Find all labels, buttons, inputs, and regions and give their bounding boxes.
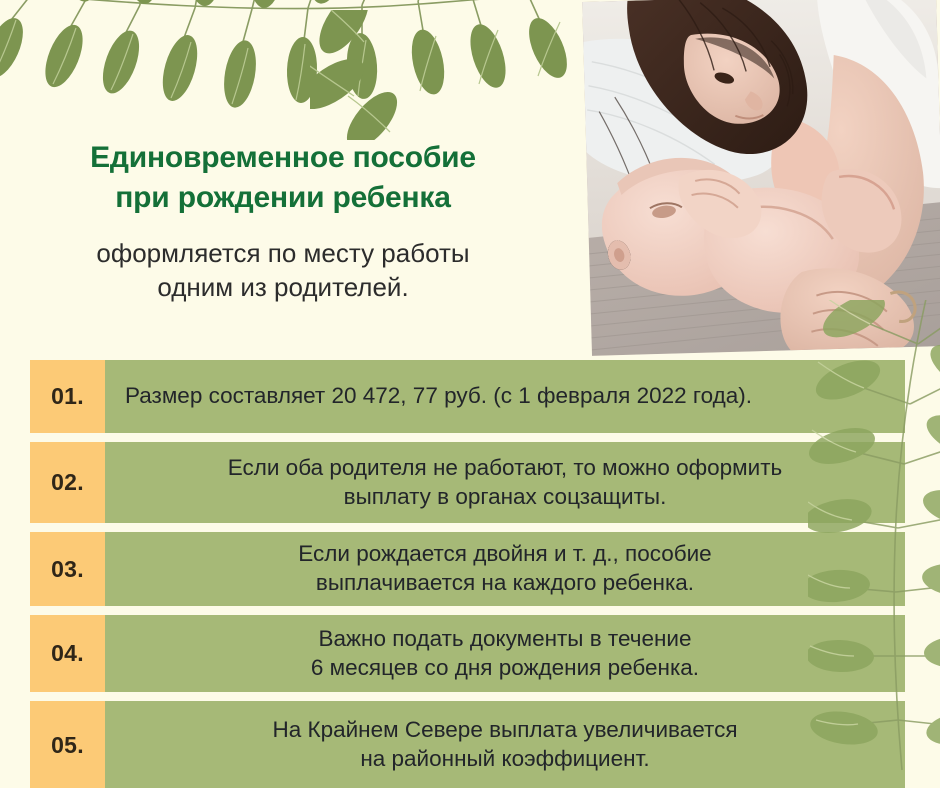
list-item-text: Если рождается двойня и т. д., пособие в… bbox=[105, 532, 905, 606]
list-item: 03. Если рождается двойня и т. д., пособ… bbox=[30, 532, 905, 606]
numbered-fact-list: 01. Размер составляет 20 472, 77 руб. (с… bbox=[30, 360, 905, 788]
list-item-line: выплачивается на каждого ребенка. bbox=[316, 570, 694, 595]
list-item-number: 02. bbox=[30, 442, 105, 523]
list-item-number: 03. bbox=[30, 532, 105, 606]
list-item-number: 01. bbox=[30, 360, 105, 433]
page-subtitle: оформляется по месту работы одним из род… bbox=[0, 236, 566, 305]
list-item-number: 05. bbox=[30, 701, 105, 788]
page-title: Единовременное пособие при рождении ребе… bbox=[0, 138, 566, 218]
list-item-number: 04. bbox=[30, 615, 105, 692]
subtitle-line-1: оформляется по месту работы bbox=[96, 238, 469, 268]
list-item: 05. На Крайнем Севере выплата увеличивае… bbox=[30, 701, 905, 788]
list-item: 02. Если оба родителя не работают, то мо… bbox=[30, 442, 905, 523]
list-item-line: 6 месяцев со дня рождения ребенка. bbox=[311, 655, 699, 680]
list-item-text: На Крайнем Севере выплата увеличивается … bbox=[105, 701, 905, 788]
photo-mother-and-baby bbox=[573, 0, 940, 365]
list-item-line: на районный коэффициент. bbox=[360, 746, 649, 771]
subtitle-line-2: одним из родителей. bbox=[157, 272, 408, 302]
list-item: 04. Важно подать документы в течение 6 м… bbox=[30, 615, 905, 692]
list-item-text: Важно подать документы в течение 6 месяц… bbox=[105, 615, 905, 692]
list-item-line: Важно подать документы в течение bbox=[318, 626, 691, 651]
list-item-line: Если оба родителя не работают, то можно … bbox=[228, 455, 783, 480]
photo-illustration bbox=[582, 0, 940, 356]
leaf-cluster-corner-icon bbox=[310, 10, 420, 140]
list-item: 01. Размер составляет 20 472, 77 руб. (с… bbox=[30, 360, 905, 433]
title-line-2: при рождении ребенка bbox=[115, 181, 450, 214]
title-line-1: Единовременное пособие bbox=[90, 141, 476, 174]
list-item-line: Если рождается двойня и т. д., пособие bbox=[298, 541, 711, 566]
infographic-poster: Единовременное пособие при рождении ребе… bbox=[0, 0, 940, 788]
list-item-line: выплату в органах соцзащиты. bbox=[344, 484, 667, 509]
list-item-text: Если оба родителя не работают, то можно … bbox=[105, 442, 905, 523]
list-item-line: На Крайнем Севере выплата увеличивается bbox=[272, 717, 737, 742]
leaf-branch-top-icon bbox=[0, 0, 630, 122]
list-item-text: Размер составляет 20 472, 77 руб. (с 1 ф… bbox=[105, 360, 905, 433]
headline-block: Единовременное пособие при рождении ребе… bbox=[0, 138, 566, 304]
list-item-line: Размер составляет 20 472, 77 руб. (с 1 ф… bbox=[125, 382, 752, 411]
